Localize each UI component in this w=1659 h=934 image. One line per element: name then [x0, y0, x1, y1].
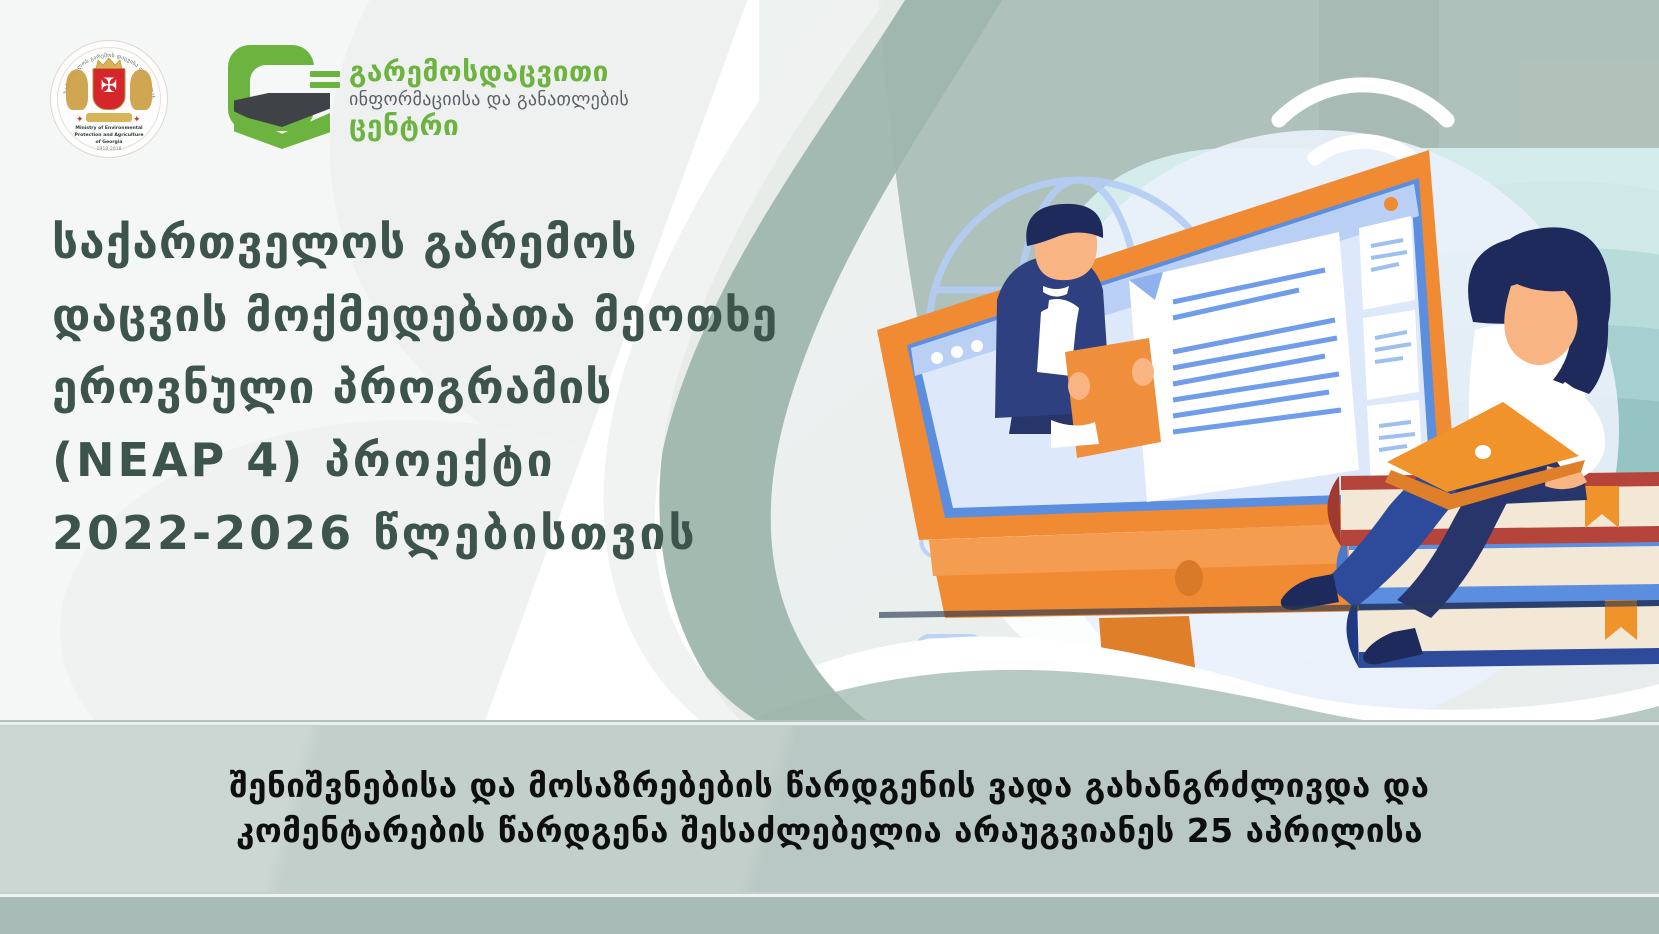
ministry-seal-logo: საქართველოს გარემოს დაცვისა და სოფლის მე… — [50, 40, 168, 158]
seal-lion-left-icon — [66, 70, 88, 110]
headline-line-2: დაცვის მოქმედებათა მეოთხე — [52, 279, 812, 352]
seal-st-george-icon: ✠ — [98, 74, 120, 98]
poster-root: საქართველოს გარემოს დაცვისა და სოფლის მე… — [0, 0, 1659, 934]
seal-english-text: Ministry of Environmental Protection and… — [50, 126, 168, 154]
eiec-logo-text: გარემოსდაცვითი ინფორმაციისა და განათლები… — [349, 57, 629, 140]
seal-en-line1: Ministry of Environmental — [50, 126, 168, 133]
status-dot — [1384, 197, 1398, 211]
eiec-title-line1: გარემოსდაცვითი — [349, 57, 629, 87]
eiec-title-line2: ინფორმაციისა და განათლების — [349, 90, 629, 109]
seal-lion-right-icon — [130, 70, 152, 110]
deadline-banner: შენიშვნებისა და მოსაზრებების წარდგენის ვ… — [0, 720, 1659, 934]
logo-row: საქართველოს გარემოს დაცვისა და სოფლის მე… — [50, 40, 629, 158]
seal-crown-icon — [94, 55, 124, 68]
headline-block: საქართველოს გარემოს დაცვის მოქმედებათა მ… — [52, 206, 812, 569]
seal-scroll-icon — [86, 113, 132, 122]
headline-line-3: ეროვნული პროგრამის — [52, 351, 812, 424]
seal-en-line4: 1918-2018 — [50, 147, 168, 154]
banner-text-area: შენიშვნებისა და მოსაზრებების წარდგენის ვ… — [0, 726, 1659, 892]
document-page — [1129, 232, 1359, 502]
seal-star-left-icon: ✦ — [76, 116, 85, 125]
eiec-logo-mark-icon — [228, 45, 336, 153]
headline-line-1: საქართველოს გარემოს — [52, 206, 812, 279]
illustration-online-learning — [759, 0, 1659, 720]
illustration-svg — [759, 0, 1659, 720]
headline-line-4: (NEAP 4) პროექტი — [52, 424, 812, 497]
banner-top-rule — [0, 720, 1659, 725]
headline-line-5: 2022-2026 წლებისთვის — [52, 497, 812, 570]
banner-footer-strip — [0, 894, 1659, 934]
seal-en-line3: of Georgia — [50, 140, 168, 147]
eiec-bars-icon — [310, 71, 340, 93]
eiec-logo: გარემოსდაცვითი ინფორმაციისა და განათლები… — [228, 45, 629, 153]
banner-line-1: შენიშვნებისა და მოსაზრებების წარდგენის ვ… — [229, 764, 1429, 809]
seal-star-right-icon: ✦ — [133, 116, 142, 125]
seal-en-line2: Protection and Agriculture — [50, 133, 168, 140]
eiec-title-line3: ცენტრი — [349, 111, 629, 141]
banner-line-2: კომენტარების წარდგენა შესაძლებელია არაუგ… — [236, 809, 1423, 854]
